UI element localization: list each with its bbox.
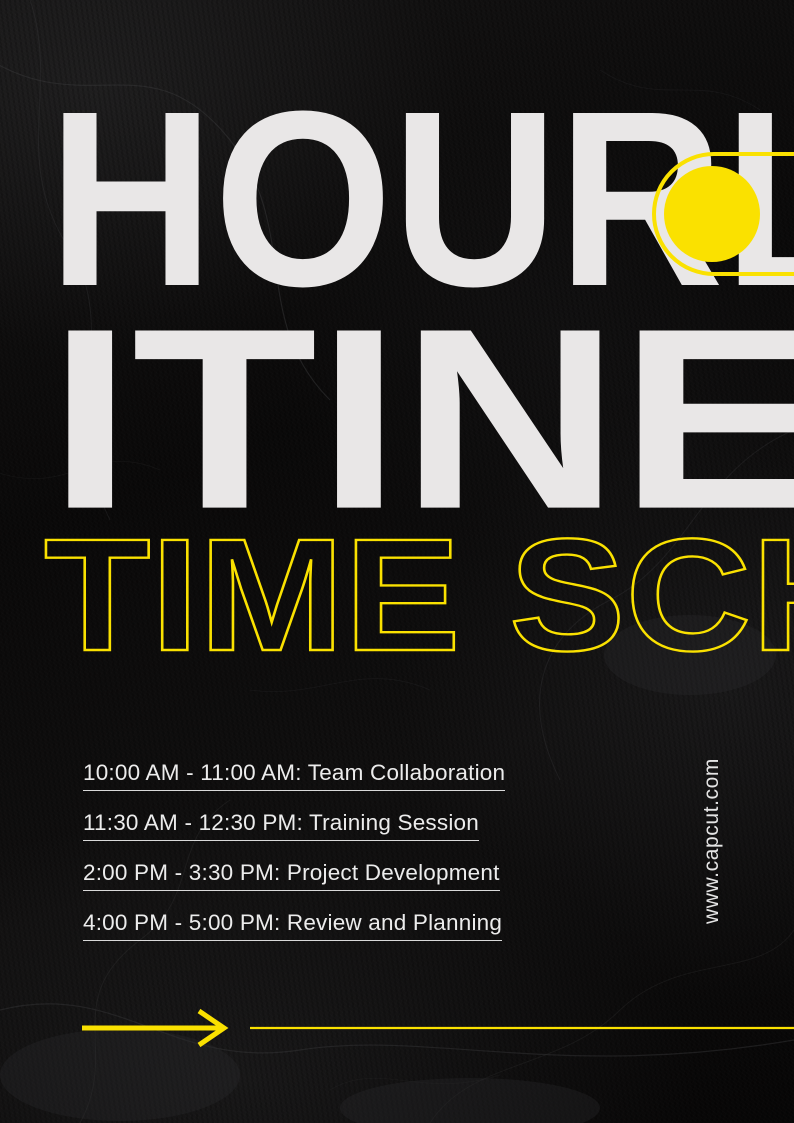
list-item: 4:00 PM - 5:00 PM: Review and Planning [83,898,643,948]
watermark-url: www.capcut.com [700,758,724,924]
schedule-entry-text: 11:30 AM - 12:30 PM: Training Session [83,811,479,841]
schedule-entry-text: 2:00 PM - 3:30 PM: Project Development [83,861,500,891]
schedule-entry-text: 4:00 PM - 5:00 PM: Review and Planning [83,911,502,941]
yellow-circle-icon [664,166,760,262]
schedule-list: 10:00 AM - 11:00 AM: Team Collaboration … [83,748,643,948]
list-item: 11:30 AM - 12:30 PM: Training Session [83,798,643,848]
list-item: 10:00 AM - 11:00 AM: Team Collaboration [83,748,643,798]
bottom-decoration [0,996,794,1060]
yellow-pill-decoration [652,152,794,276]
schedule-entry-text: 10:00 AM - 11:00 AM: Team Collaboration [83,761,505,791]
list-item: 2:00 PM - 3:30 PM: Project Development [83,848,643,898]
subtitle-block: TIME SCHEDULE [44,528,794,662]
poster-canvas: HOURLY ITINERARY TIME SCHEDULE 10:00 AM … [0,0,794,1123]
headline-line-itinerary: ITINERARY [48,313,794,524]
subtitle-time-schedule: TIME SCHEDULE [44,528,794,662]
headline-row-2: ITINERARY [48,313,794,518]
headline-line-hourly: HOURLY [48,96,734,301]
